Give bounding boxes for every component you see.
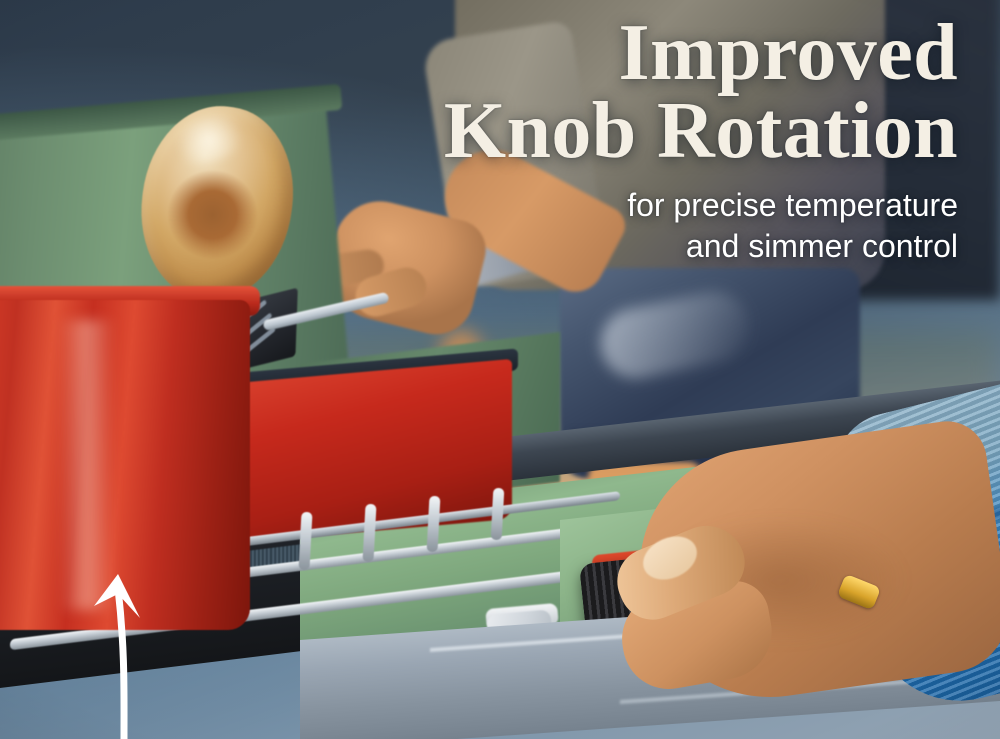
subtitle: for precise temperature and simmer contr… <box>318 185 958 268</box>
page-title: Improved Knob Rotation <box>318 14 958 171</box>
promo-banner: Improved Knob Rotation for precise tempe… <box>0 0 1000 739</box>
subtitle-line-1: for precise temperature <box>627 187 958 223</box>
subtitle-line-2: and simmer control <box>318 226 958 268</box>
headline-line-2: Knob Rotation <box>318 92 958 170</box>
front-red-pot <box>0 300 250 630</box>
headline-line-1: Improved <box>618 9 958 97</box>
text-overlay: Improved Knob Rotation for precise tempe… <box>318 14 958 268</box>
front-pot-highlight <box>60 320 114 610</box>
